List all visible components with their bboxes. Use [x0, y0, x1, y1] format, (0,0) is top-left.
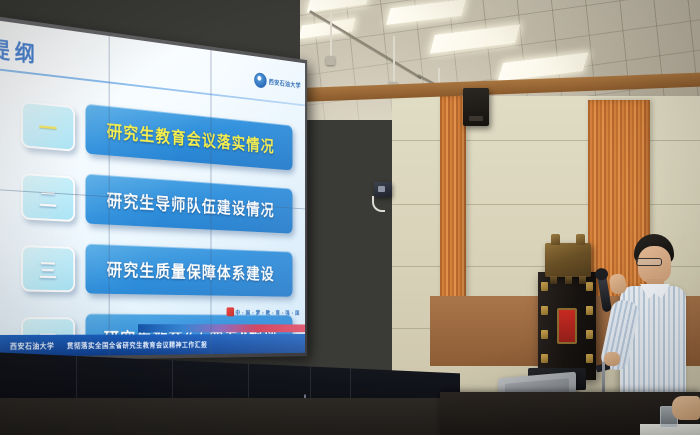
pedestal-stud	[586, 306, 593, 315]
artifact-pedestal	[538, 272, 596, 380]
slide: 提纲 西安石油大学 一 研究生教育会议落实情况	[0, 20, 305, 357]
video-wall[interactable]: 提纲 西安石油大学 一 研究生教育会议落实情况	[0, 16, 307, 361]
item-number-badge: 三	[21, 245, 75, 292]
wall-camera-icon	[374, 182, 392, 197]
pedestal-plaque	[557, 308, 577, 344]
item-text: 研究生质量保障体系建设	[107, 257, 275, 285]
item-number-label: 二	[39, 183, 58, 212]
gradient-accent-strip	[138, 324, 305, 332]
university-seal-icon	[254, 72, 266, 89]
item-bar[interactable]: 研究生质量保障体系建设	[86, 244, 293, 297]
outline-list: 一 研究生教育会议落实情况 二 研究生导师队伍建设情况	[21, 95, 299, 357]
list-item[interactable]: 二 研究生导师队伍建设情况	[21, 167, 299, 241]
pedestal-stud	[541, 282, 548, 291]
ding-leg	[579, 276, 586, 284]
presentation-screen[interactable]: 提纲 西安石油大学 一 研究生教育会议落实情况	[0, 20, 305, 357]
item-number-label: 三	[39, 255, 58, 284]
presenter-hand-right	[604, 352, 620, 366]
pedestal-stud	[586, 330, 593, 339]
list-item[interactable]: 一 研究生教育会议落实情况	[21, 95, 299, 178]
list-item[interactable]: 三 研究生质量保障体系建设	[21, 239, 299, 304]
page-title: 提纲	[0, 31, 39, 69]
item-text: 研究生教育会议落实情况	[107, 118, 275, 157]
corner-badge: 中 · 国 · 梦 · 教 · 育 · 强 · 国	[226, 307, 299, 316]
spotlight-head	[326, 56, 335, 65]
camera-cable	[372, 196, 385, 212]
ding-handle	[551, 234, 560, 245]
spotlight-stem	[330, 12, 332, 58]
badge-text: 中 · 国 · 梦 · 教 · 育 · 强 · 国	[235, 308, 299, 316]
presenter	[596, 234, 700, 399]
university-name: 西安石油大学	[269, 77, 301, 90]
pedestal-stud	[586, 282, 593, 291]
wall-seam	[392, 140, 700, 141]
glasses-icon	[636, 258, 662, 266]
pedestal-stud	[541, 330, 548, 339]
bronze-ding-vessel	[545, 243, 591, 277]
foreground-hand	[672, 396, 700, 420]
footer-right-text: 贯彻落实全国全省研究生教育会议精神工作汇报	[67, 339, 208, 350]
wall-seam	[392, 204, 700, 205]
pedestal-stud	[586, 354, 593, 363]
item-bar[interactable]: 研究生教育会议落实情况	[86, 104, 293, 171]
item-number-badge: 二	[21, 173, 75, 222]
red-badge-icon	[226, 307, 234, 316]
ding-handle	[576, 234, 585, 245]
item-number-badge: 一	[21, 101, 75, 152]
pedestal-stud	[541, 354, 548, 363]
footer-left-text: 西安石油大学	[10, 340, 54, 351]
spotlight-stem	[393, 36, 395, 84]
wall-speaker	[463, 88, 489, 126]
item-bar[interactable]: 研究生导师队伍建设情况	[86, 174, 293, 234]
university-logo: 西安石油大学	[254, 72, 301, 93]
item-number-label: 一	[39, 111, 58, 141]
pedestal-stud	[541, 306, 548, 315]
conference-room-scene: 提纲 西安石油大学 一 研究生教育会议落实情况	[0, 0, 700, 435]
ding-leg	[550, 276, 557, 284]
ding-leg	[565, 276, 572, 284]
